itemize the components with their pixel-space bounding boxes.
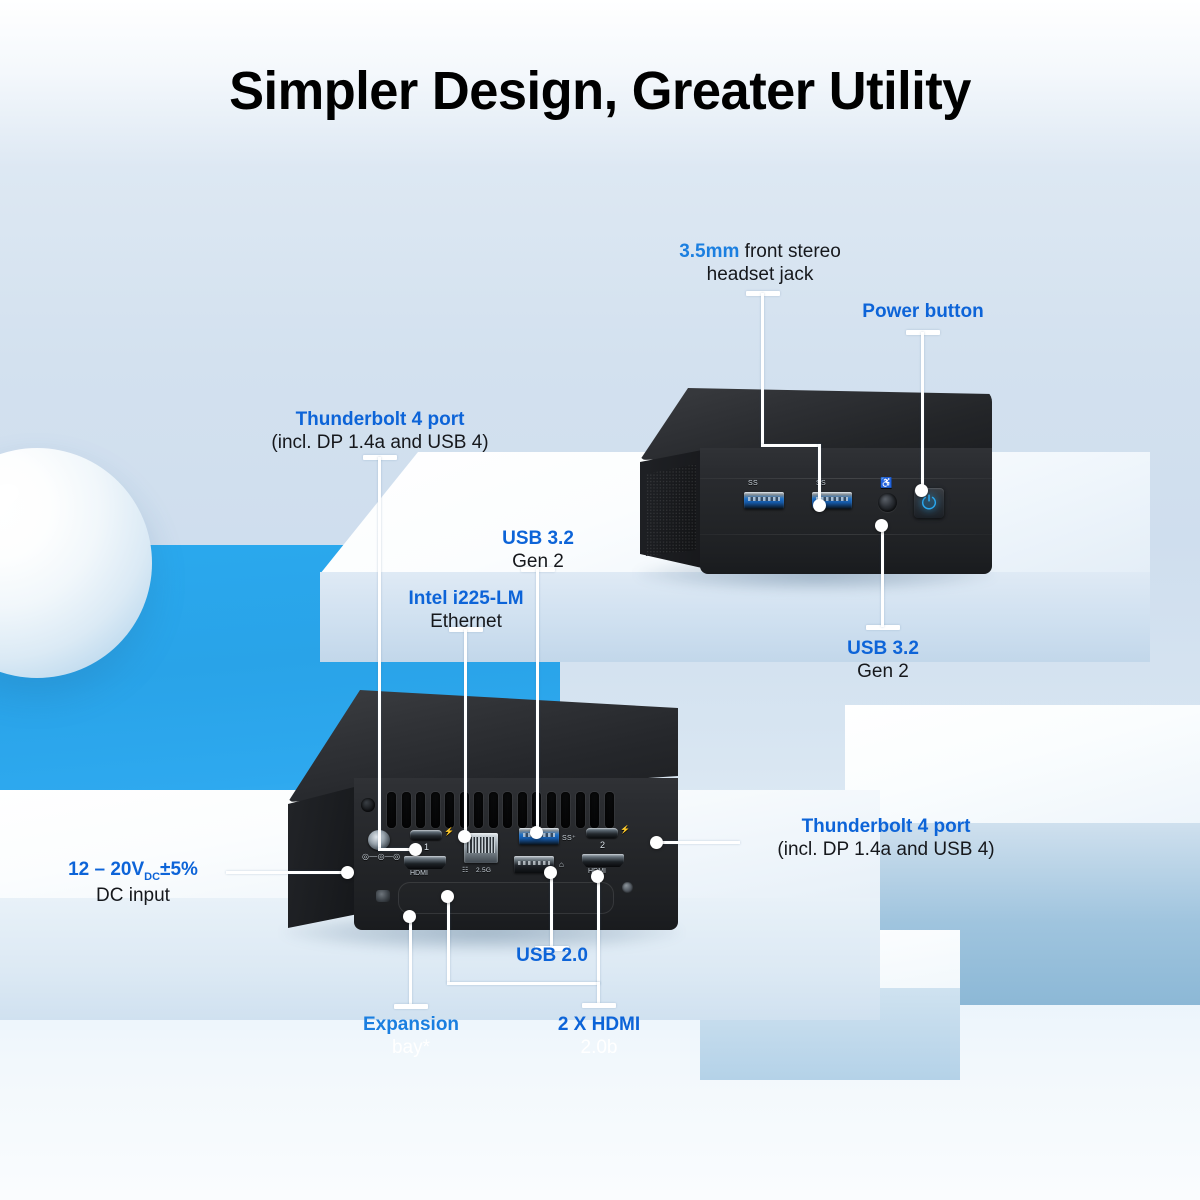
headset-jack-line2: headset jack [610, 263, 910, 286]
label-thunderbolt-left: Thunderbolt 4 port (incl. DP 1.4a and US… [230, 408, 530, 454]
label-power-button: Power button [823, 300, 1023, 323]
product-scene: SS SS ♿ ⏻ [0, 0, 1200, 1200]
antenna-hole [361, 798, 375, 812]
label-usb20: USB 2.0 [452, 944, 652, 967]
headphone-icon: ♿ [880, 478, 893, 489]
ethernet-dot [458, 830, 471, 843]
expansion-bay-highlight: Expansion [311, 1013, 511, 1036]
usb32-front-leader-v [881, 527, 884, 627]
headset-jack-leader-v [761, 293, 764, 445]
rear-unit-sidewall [288, 786, 358, 928]
usb20-leader-v [550, 872, 553, 948]
hdmi-highlight: 2 X HDMI [499, 1013, 699, 1036]
mini-pc-front-unit: SS SS ♿ ⏻ [622, 388, 992, 580]
label-dc-input: 12 – 20VDC±5% DC input [28, 858, 238, 907]
dc-input-dot [341, 866, 354, 879]
label-ethernet: Intel i225-LM Ethernet [366, 587, 566, 633]
expansion-bay-panel[interactable] [398, 882, 614, 914]
power-button-leader-v [921, 332, 924, 490]
thunderbolt-1-number: 1 [424, 842, 429, 852]
headset-jack-highlight: 3.5mm [679, 241, 739, 262]
dc-input-tolerance: ±5% [160, 859, 198, 880]
thunderbolt-4-port-1[interactable] [410, 830, 442, 840]
dc-input-subscript: DC [144, 871, 160, 883]
platform-right-top [845, 705, 1200, 825]
usb20-dot [544, 866, 557, 879]
usb-superspeed-marking: SS⁺ [562, 834, 576, 842]
usb32-rear-line2: Gen 2 [438, 550, 638, 573]
thunderbolt-2-number: 2 [600, 840, 605, 850]
hdmi-left-marking: HDMI [410, 870, 428, 877]
usb32-front-dot [875, 519, 888, 532]
hdmi-port-left[interactable] [404, 856, 446, 869]
thunderbolt-left-dot [409, 843, 422, 856]
front-unit-vent-mesh [646, 464, 696, 556]
usb32-rear-dot [530, 826, 543, 839]
hdmi-left-dot [441, 890, 454, 903]
headset-jack-leader-v2 [818, 444, 821, 506]
rear-unit-face: ◎—◎—◎ 1 ⚡ HDMI ☷ 2.5G SS⁺ [354, 778, 678, 930]
label-thunderbolt-right: Thunderbolt 4 port (incl. DP 1.4a and US… [706, 815, 1066, 861]
dc-input-line2: DC input [28, 884, 238, 907]
ethernet-speed-marking: 2.5G [476, 867, 491, 874]
expansion-bay-dot [403, 910, 416, 923]
thunderbolt-left-highlight: Thunderbolt 4 port [230, 408, 530, 431]
front-unit-face: SS SS ♿ ⏻ [700, 448, 992, 574]
expansion-bay-line2: bay* [311, 1036, 511, 1059]
hdmi-left-leader-v [447, 896, 450, 983]
label-hdmi: 2 X HDMI 2.0b [499, 1013, 699, 1059]
headset-jack-rest: front stereo [739, 241, 840, 262]
thunderbolt-4-port-2[interactable] [586, 828, 618, 838]
usb-trident-icon: ⌂ [559, 860, 564, 869]
usb20-highlight: USB 2.0 [452, 944, 652, 967]
ethernet-icon: ☷ [462, 866, 469, 874]
headset-jack-leader-h [761, 444, 821, 447]
label-headset-jack: 3.5mm front stereo headset jack [610, 240, 910, 286]
usb32-front-highlight: USB 3.2 [783, 637, 983, 660]
page-title: Simpler Design, Greater Utility [18, 60, 1182, 122]
hdmi-port-right[interactable] [582, 854, 624, 867]
ethernet-highlight: Intel i225-LM [366, 587, 566, 610]
usb32-rear-highlight: USB 3.2 [438, 527, 638, 550]
thunderbolt-right-dot [650, 836, 663, 849]
label-expansion-bay: Expansion bay* [311, 1013, 511, 1059]
dc-input-voltage: 12 – 20V [68, 859, 144, 880]
power-button-dot [915, 484, 928, 497]
thunderbolt-left-line2: (incl. DP 1.4a and USB 4) [230, 431, 530, 454]
rear-vent-row [387, 792, 614, 828]
thunderbolt-right-line2: (incl. DP 1.4a and USB 4) [706, 838, 1066, 861]
usb32-front-line2: Gen 2 [783, 660, 983, 683]
hdmi-tick [582, 1003, 616, 1008]
front-usb-3-2-gen2-port-a[interactable] [744, 492, 784, 509]
label-usb32-rear: USB 3.2 Gen 2 [438, 527, 638, 573]
expansion-bay-tick [394, 1004, 428, 1009]
ethernet-line2: Ethernet [366, 610, 566, 633]
hdmi-leader-drop [597, 982, 600, 1004]
expansion-bay-leader-v [409, 916, 412, 1005]
thunderbolt-left-leader-v [378, 457, 381, 850]
usb-ss-marking-a: SS [748, 480, 758, 487]
dc-polarity-marking: ◎—◎—◎ [362, 852, 400, 861]
thunderbolt-right-highlight: Thunderbolt 4 port [706, 815, 1066, 838]
front-3-5mm-headset-jack[interactable] [878, 493, 897, 512]
power-button-highlight: Power button [823, 300, 1023, 323]
headset-jack-dot [813, 499, 826, 512]
hdmi-line2: 2.0b [499, 1036, 699, 1059]
chassis-thumbscrew [622, 882, 633, 893]
hdmi-join-bar [447, 982, 600, 985]
thunderbolt-bolt-icon-1: ⚡ [444, 827, 454, 836]
label-usb32-front: USB 3.2 Gen 2 [783, 637, 983, 683]
ethernet-leader-v [464, 629, 467, 835]
thunderbolt-bolt-icon-2: ⚡ [620, 825, 630, 834]
dc-input-leader-h [226, 871, 346, 874]
mini-pc-rear-unit: ◎—◎—◎ 1 ⚡ HDMI ☷ 2.5G SS⁺ [268, 690, 678, 950]
hdmi-right-dot [591, 870, 604, 883]
kensington-lock-slot [376, 890, 390, 902]
